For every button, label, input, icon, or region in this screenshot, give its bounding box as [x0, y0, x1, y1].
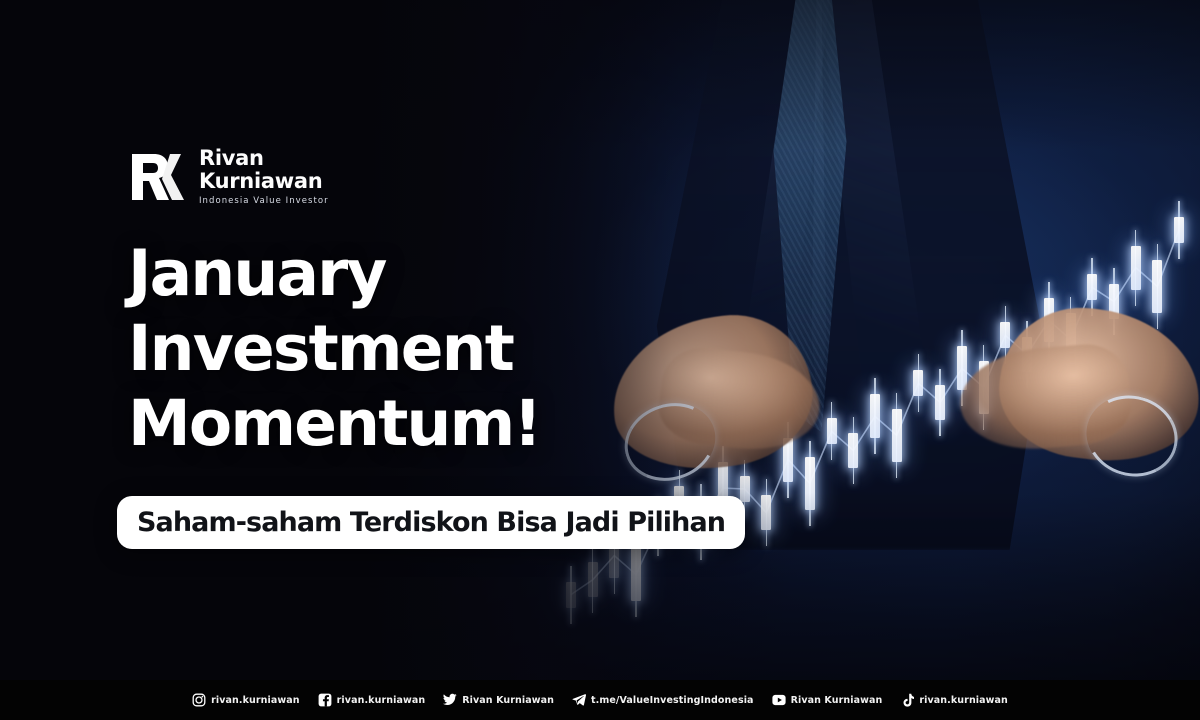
brand-tagline: Indonesia Value Investor — [199, 197, 329, 206]
social-handle: rivan.kurniawan — [337, 695, 426, 706]
brand-name-line1: Rivan — [199, 148, 329, 169]
social-handle: Rivan Kurniawan — [791, 695, 883, 706]
telegram-icon — [572, 693, 586, 707]
rk-monogram-icon — [128, 148, 190, 206]
subtitle-pill: Saham-saham Terdiskon Bisa Jadi Pilihan — [117, 496, 745, 549]
brand-name-line2: Kurniawan — [199, 171, 329, 192]
youtube-icon — [772, 693, 786, 707]
social-handle: t.me/ValueInvestingIndonesia — [591, 695, 754, 706]
social-link-tiktok[interactable]: rivan.kurniawan — [900, 693, 1008, 707]
facebook-icon — [318, 693, 332, 707]
headline-line-1: January — [128, 236, 540, 311]
social-handle: rivan.kurniawan — [211, 695, 300, 706]
social-footer-bar: rivan.kurniawanrivan.kurniawanRivan Kurn… — [0, 680, 1200, 720]
brand-logo: Rivan Kurniawan Indonesia Value Investor — [128, 148, 329, 206]
headline-line-3: Momentum! — [128, 386, 540, 461]
social-handle: rivan.kurniawan — [919, 695, 1008, 706]
promo-banner: Rivan Kurniawan Indonesia Value Investor… — [0, 0, 1200, 720]
instagram-icon — [192, 693, 206, 707]
headline-line-2: Investment — [128, 311, 540, 386]
social-handle: Rivan Kurniawan — [462, 695, 554, 706]
social-link-telegram[interactable]: t.me/ValueInvestingIndonesia — [572, 693, 754, 707]
tiktok-icon — [900, 693, 914, 707]
subtitle-text: Saham-saham Terdiskon Bisa Jadi Pilihan — [137, 507, 725, 538]
twitter-icon — [443, 693, 457, 707]
social-link-facebook[interactable]: rivan.kurniawan — [318, 693, 426, 707]
social-link-twitter[interactable]: Rivan Kurniawan — [443, 693, 554, 707]
social-link-instagram[interactable]: rivan.kurniawan — [192, 693, 300, 707]
page-title: January Investment Momentum! — [128, 236, 540, 461]
social-link-youtube[interactable]: Rivan Kurniawan — [772, 693, 883, 707]
brand-logo-text: Rivan Kurniawan Indonesia Value Investor — [199, 148, 329, 206]
